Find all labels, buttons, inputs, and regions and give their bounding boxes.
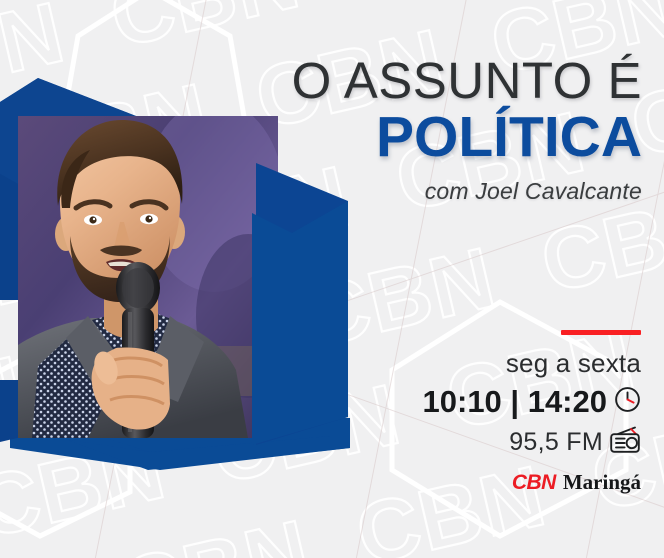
brand-network-label: CBN — [512, 471, 556, 495]
brand-city-label: Maringá — [563, 470, 641, 495]
program-title-line2: POLÍTICA — [202, 108, 642, 166]
schedule-days: seg a sexta — [341, 348, 641, 379]
schedule-times-row: 10:10 | 14:20 — [341, 384, 641, 420]
red-accent-rule — [561, 330, 641, 335]
schedule-block: seg a sexta 10:10 | 14:20 95,5 FM — [341, 330, 641, 495]
program-headline: O ASSUNTO É POLÍTICA com Joel Cavalcante — [202, 56, 642, 205]
schedule-frequency-row: 95,5 FM — [341, 426, 641, 459]
radio-program-banner: CBN CBN CBN CBN CBN CBN CBN CBN CBN CBN … — [0, 0, 664, 558]
schedule-times: 10:10 | 14:20 — [423, 384, 607, 420]
clock-icon — [614, 386, 641, 418]
program-host: com Joel Cavalcante — [202, 178, 642, 205]
radio-icon — [609, 426, 641, 459]
station-brand: CBN Maringá — [341, 470, 641, 495]
schedule-frequency: 95,5 FM — [509, 428, 603, 457]
program-title-line1: O ASSUNTO É — [202, 56, 642, 106]
